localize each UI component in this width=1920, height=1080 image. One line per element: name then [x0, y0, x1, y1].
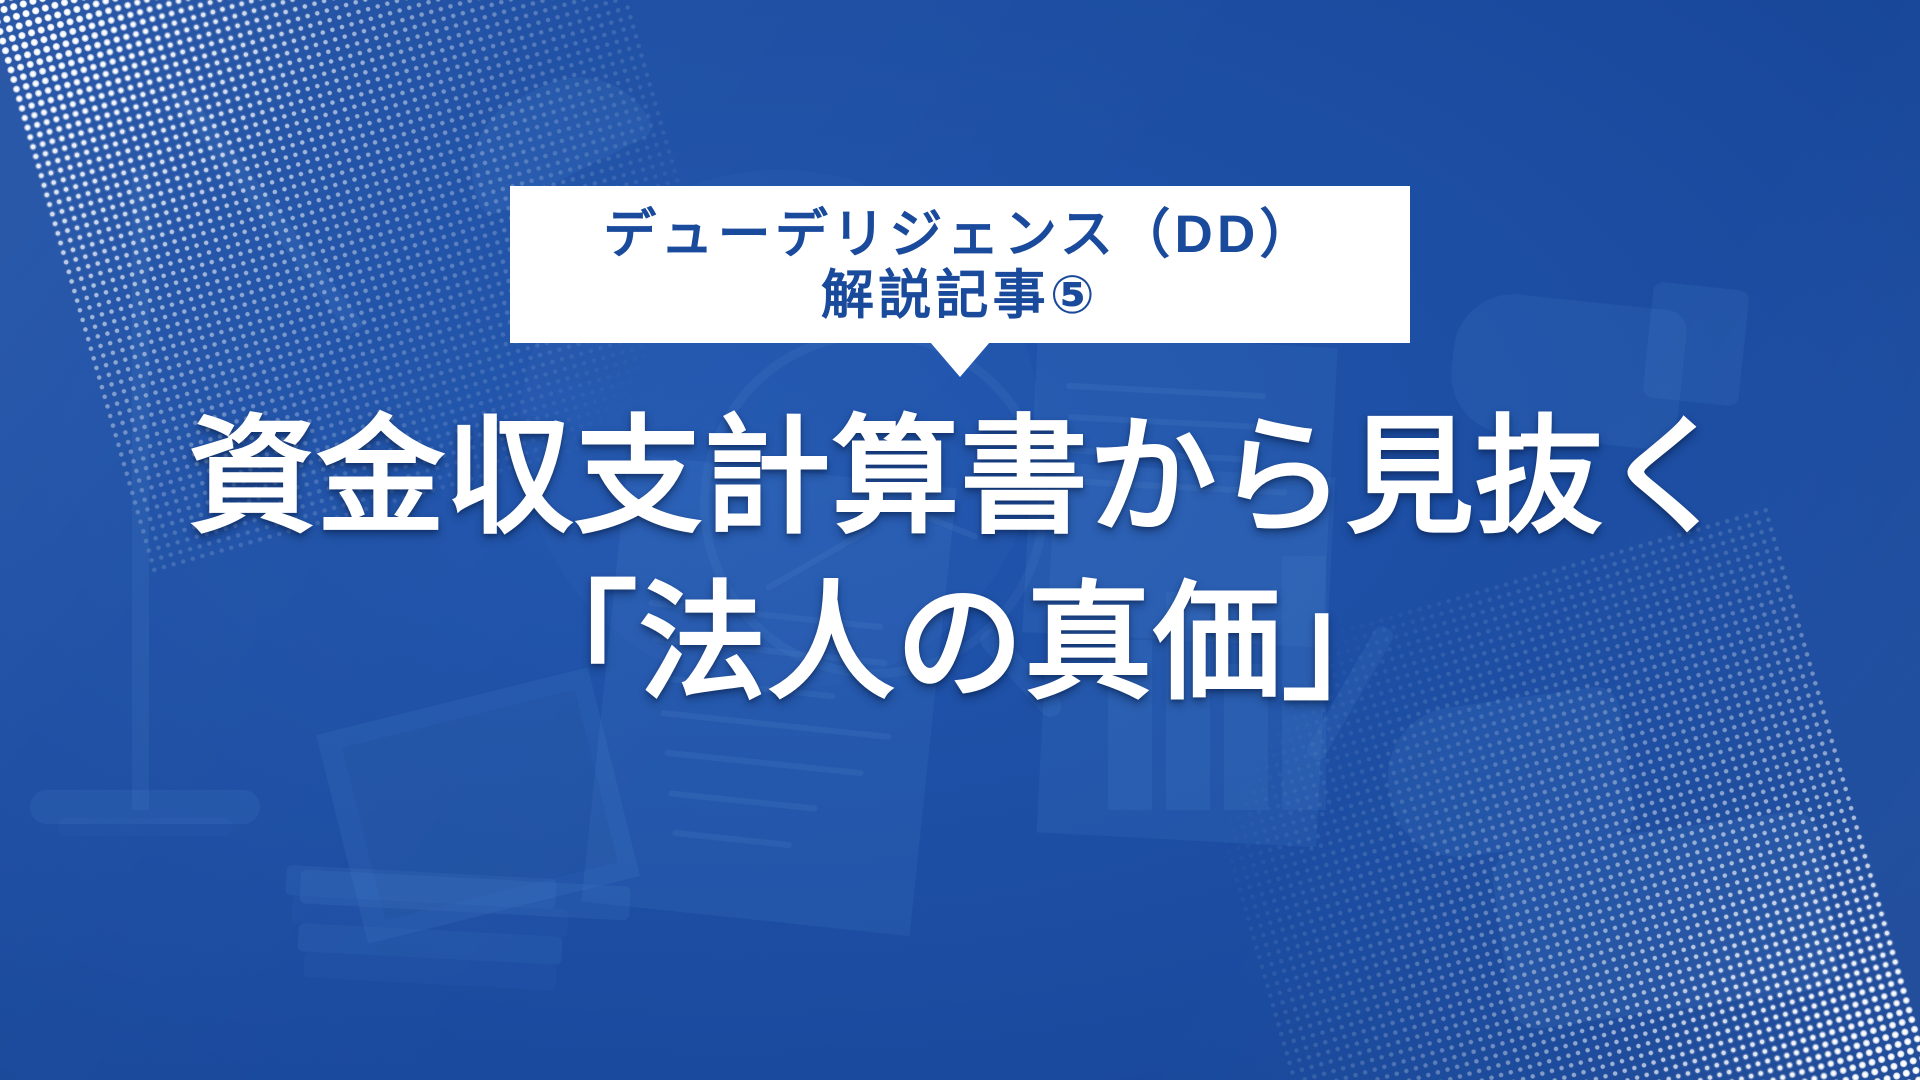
- badge-line-2: 解説記事⑤: [554, 265, 1366, 326]
- badge-box: デューデリジェンス（DD） 解説記事⑤: [510, 186, 1410, 343]
- badge-line-1: デューデリジェンス（DD）: [554, 204, 1366, 265]
- badge-tail-triangle: [930, 342, 990, 377]
- banner-canvas: デューデリジェンス（DD） 解説記事⑤ 資金収支計算書から見抜く 「法人の真価」: [0, 0, 1920, 1080]
- title-line-2: 「法人の真価」: [0, 561, 1920, 727]
- page-title: 資金収支計算書から見抜く 「法人の真価」: [0, 395, 1920, 728]
- title-line-1: 資金収支計算書から見抜く: [0, 395, 1920, 561]
- badge-callout: デューデリジェンス（DD） 解説記事⑤: [510, 186, 1410, 343]
